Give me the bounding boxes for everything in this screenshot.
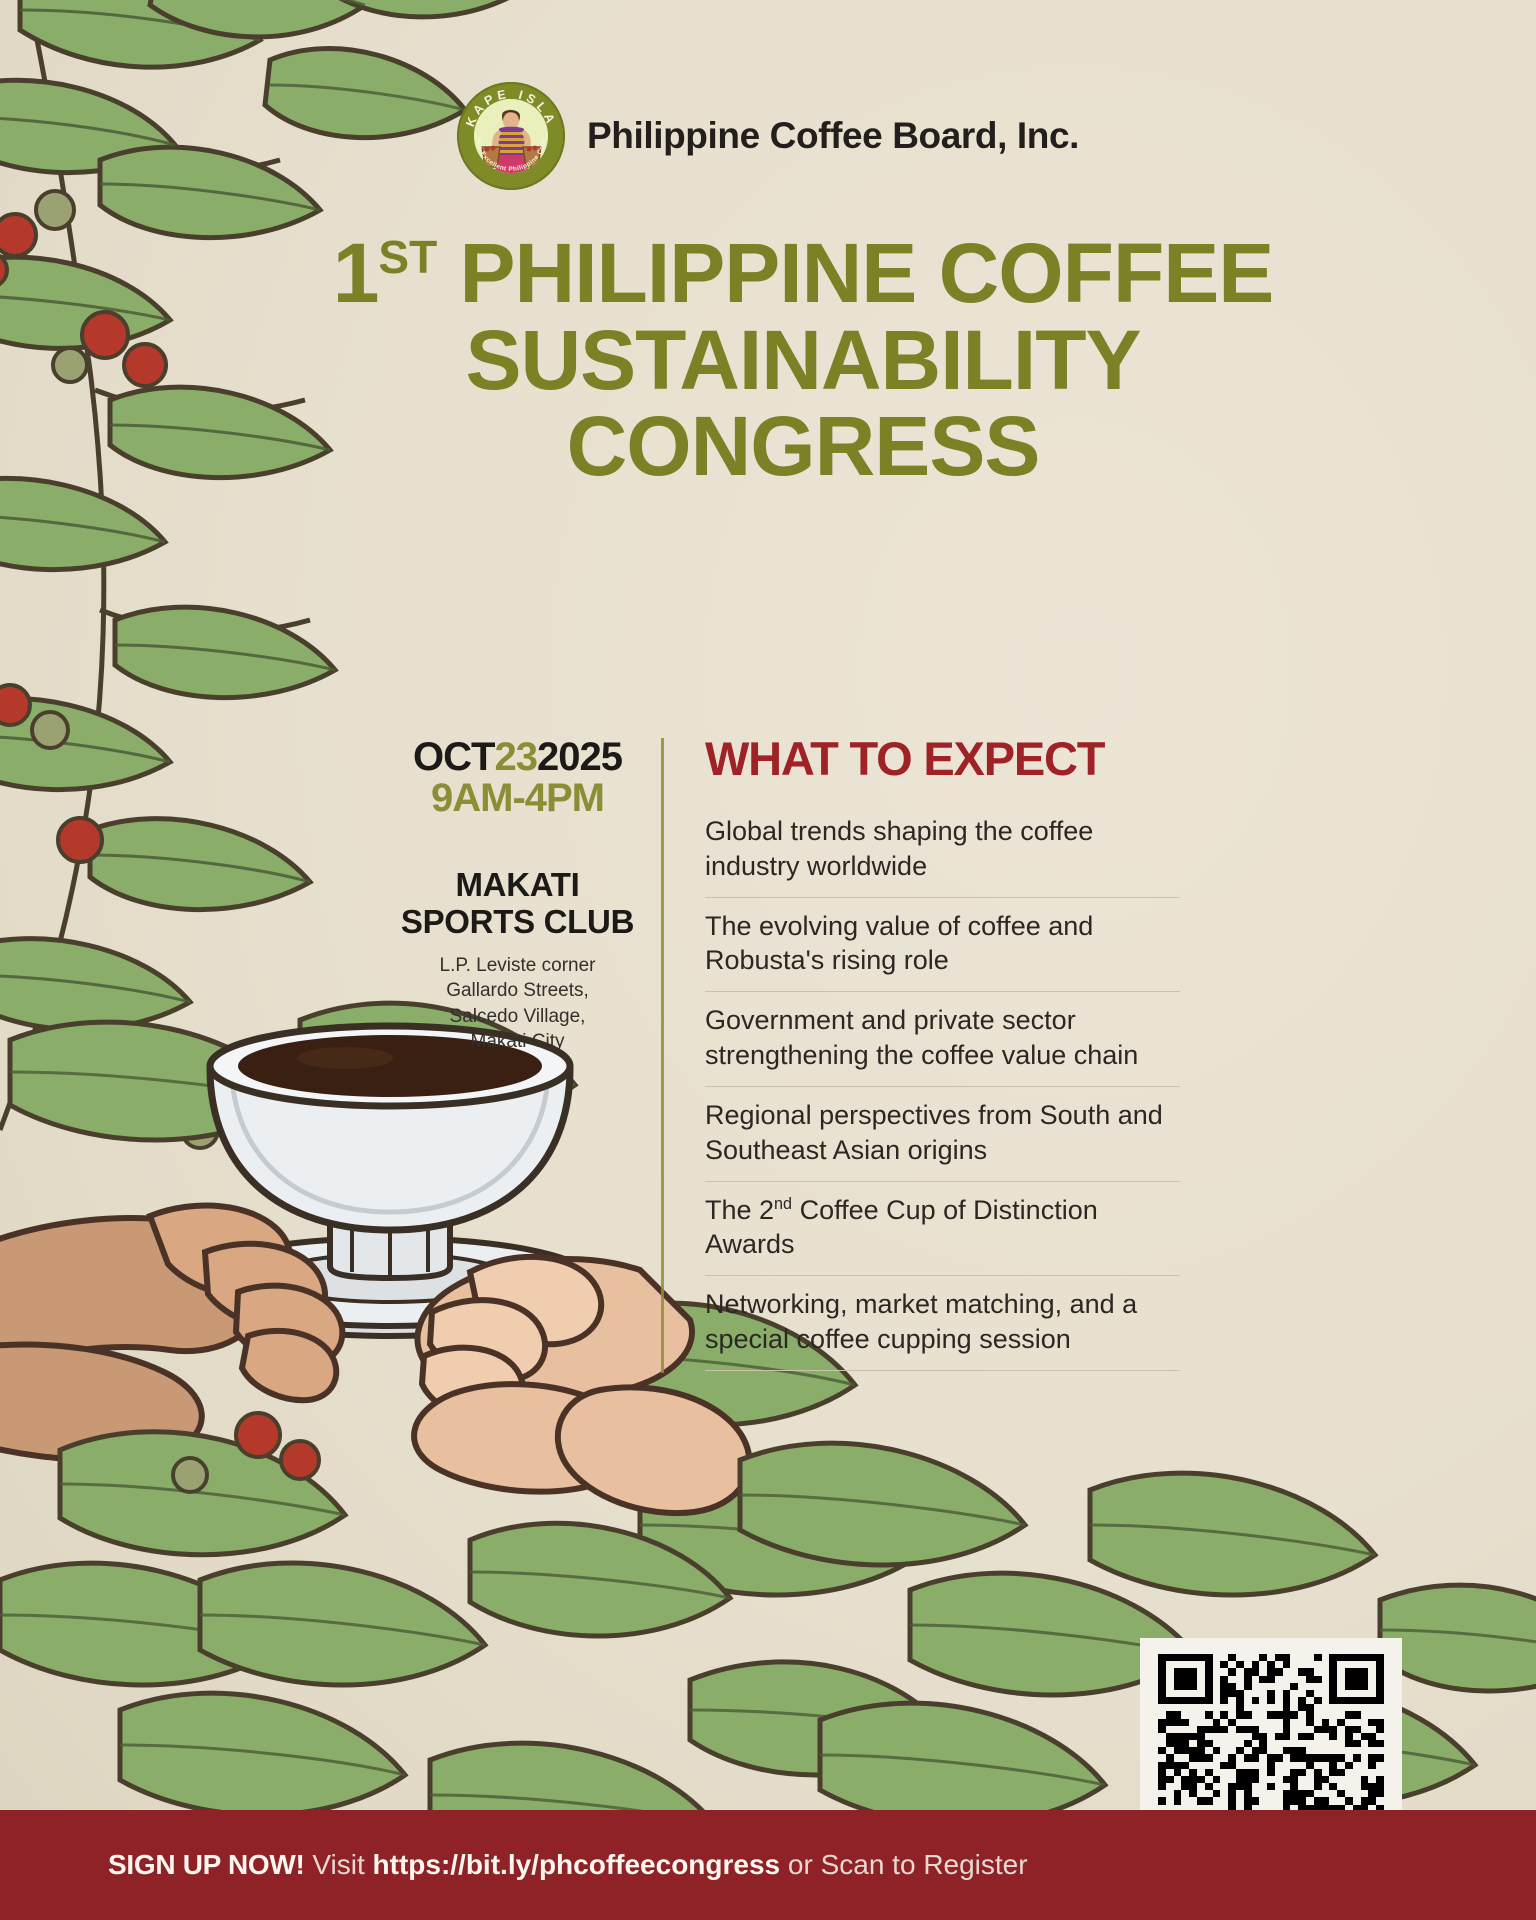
title-ordinal: 1 <box>333 226 379 320</box>
title-line-2: SUSTAINABILITY <box>180 317 1426 404</box>
address-line-1: L.P. Leviste corner <box>395 953 640 978</box>
list-item: Global trends shaping the coffee industr… <box>705 810 1180 898</box>
logo-ring-text: KAPE ISLA 100% Excellent Philippine Coff… <box>457 82 565 190</box>
signup-footer-bar: SIGN UP NOW! Visit https://bit.ly/phcoff… <box>0 1810 1536 1920</box>
title-line-3: CONGRESS <box>180 403 1426 490</box>
venue-line-1: MAKATI <box>395 867 640 904</box>
event-details-column: OCT232025 9AM-4PM MAKATI SPORTS CLUB L.P… <box>395 735 640 1055</box>
signup-cta-label: SIGN UP NOW! <box>108 1849 305 1880</box>
event-date: OCT232025 <box>395 735 640 780</box>
address-line-2: Gallardo Streets, <box>395 978 640 1003</box>
what-to-expect-heading: WHAT TO EXPECT <box>705 735 1180 782</box>
visit-label: Visit <box>312 1849 364 1880</box>
venue-name: MAKATI SPORTS CLUB <box>395 867 640 941</box>
address-line-4: Makati City <box>395 1029 640 1054</box>
registration-url[interactable]: https://bit.ly/phcoffeecongress <box>373 1849 781 1880</box>
list-item: Regional perspectives from South and Sou… <box>705 1087 1180 1182</box>
scan-instruction: or Scan to Register <box>788 1849 1028 1880</box>
kape-isla-badge-icon: KAPE ISLA 100% Excellent Philippine Coff… <box>457 82 565 190</box>
list-item: The 2nd Coffee Cup of Distinction Awards <box>705 1182 1180 1277</box>
list-item: Government and private sector strengthen… <box>705 992 1180 1087</box>
address-line-3: Salcedo Village, <box>395 1004 640 1029</box>
brand-header: KAPE ISLA 100% Excellent Philippine Coff… <box>0 82 1536 190</box>
venue-line-2: SPORTS CLUB <box>395 904 640 941</box>
what-to-expect-list: Global trends shaping the coffee industr… <box>705 810 1180 1371</box>
date-month: OCT <box>413 735 494 779</box>
vertical-divider <box>661 738 664 1373</box>
poster-canvas: KAPE ISLA 100% Excellent Philippine Coff… <box>0 0 1536 1920</box>
date-day: 23 <box>494 735 537 779</box>
list-item: Networking, market matching, and a speci… <box>705 1276 1180 1371</box>
list-item-prefix: The 2 <box>705 1195 774 1225</box>
venue-address: L.P. Leviste corner Gallardo Streets, Sa… <box>395 953 640 1055</box>
svg-text:KAPE ISLA: KAPE ISLA <box>463 87 559 129</box>
date-year: 2025 <box>537 735 622 779</box>
list-item: The evolving value of coffee and Robusta… <box>705 898 1180 993</box>
event-time: 9AM-4PM <box>395 776 640 821</box>
signup-footer-text: SIGN UP NOW! Visit https://bit.ly/phcoff… <box>108 1849 1028 1881</box>
ordinal-suffix: nd <box>774 1195 792 1213</box>
page-title: 1ST PHILIPPINE COFFEE SUSTAINABILITY CON… <box>180 230 1426 490</box>
what-to-expect-column: WHAT TO EXPECT Global trends shaping the… <box>705 735 1180 1371</box>
title-line-1: PHILIPPINE COFFEE <box>460 226 1274 320</box>
organization-name: Philippine Coffee Board, Inc. <box>587 115 1079 157</box>
title-ordinal-suffix: ST <box>378 231 437 283</box>
